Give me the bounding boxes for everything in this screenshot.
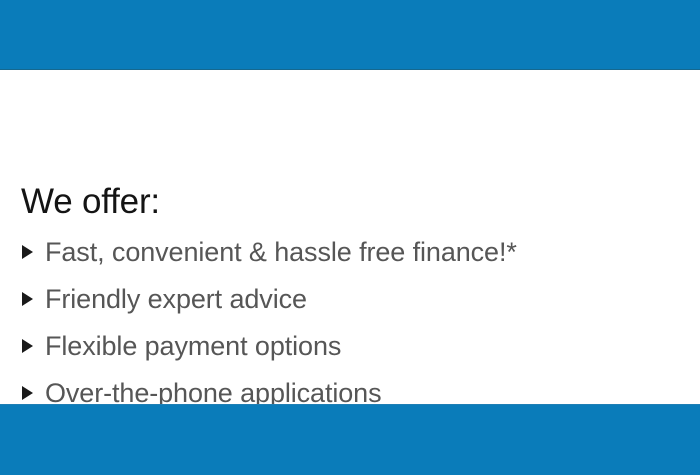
triangle-right-icon xyxy=(21,245,34,258)
list-item: Friendly expert advice xyxy=(21,283,681,330)
triangle-right-icon xyxy=(21,339,34,352)
list-item-label: Friendly expert advice xyxy=(45,283,307,316)
list-item-label: Flexible payment options xyxy=(45,330,341,363)
footer-blue-band: *Available to approved applicants only. xyxy=(0,404,700,475)
triangle-right-icon xyxy=(21,386,34,399)
header-blue-band xyxy=(0,0,700,70)
slide-body: We offer: Fast, convenient & hassle free… xyxy=(0,70,700,404)
triangle-right-icon xyxy=(21,292,34,305)
page-title: We offer: xyxy=(21,182,160,222)
presentation-slide: We offer: Fast, convenient & hassle free… xyxy=(0,0,700,475)
offer-bullet-list: Fast, convenient & hassle free finance!*… xyxy=(21,236,681,424)
list-item: Flexible payment options xyxy=(21,330,681,377)
list-item-label: Fast, convenient & hassle free finance!* xyxy=(45,236,517,269)
list-item: Fast, convenient & hassle free finance!* xyxy=(21,236,681,283)
